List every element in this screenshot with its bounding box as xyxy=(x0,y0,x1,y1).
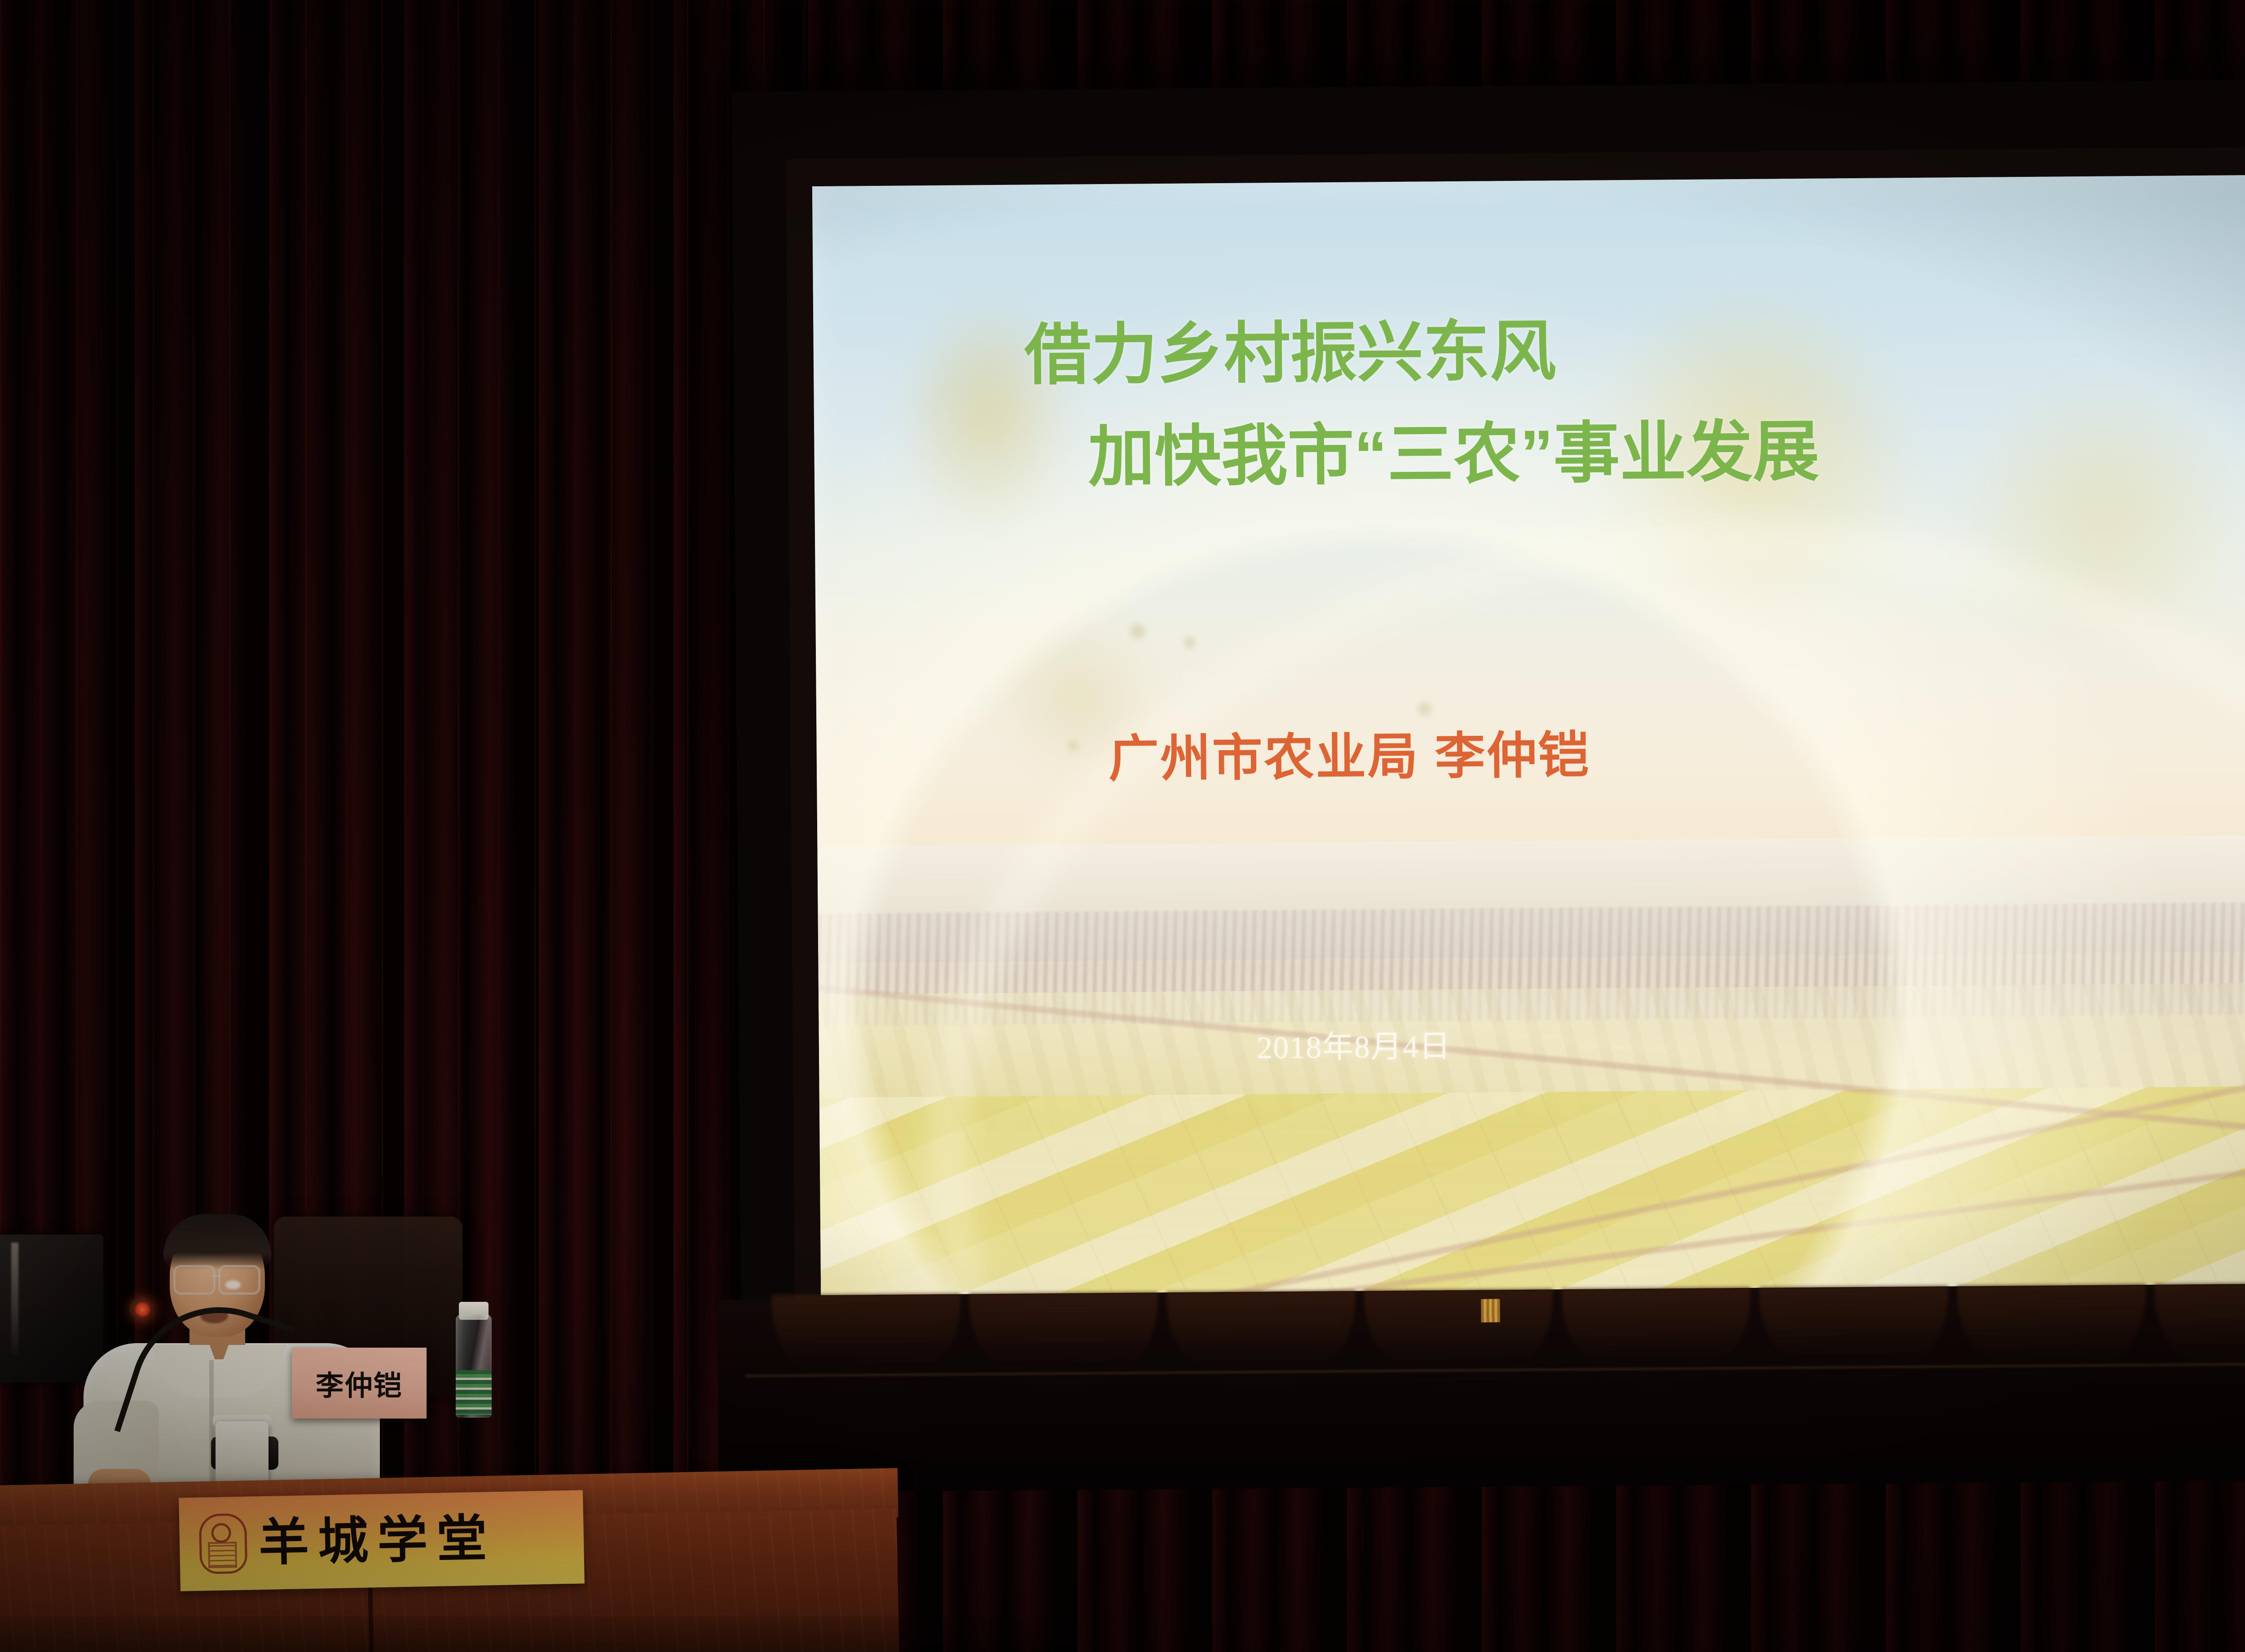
slide-presenter-line: 广州市农业局 李仲铠 xyxy=(1108,715,1590,791)
auditorium-scene: 借力乡村振兴东风 加快我市“三农”事业发展 广州市农业局 李仲铠 2018年8月… xyxy=(0,0,2245,1652)
valance-scallop xyxy=(2154,1283,2245,1387)
desk-nameplate-text: 李仲铠 xyxy=(316,1363,402,1403)
eyeglass-glint xyxy=(225,1280,241,1289)
background-speck xyxy=(1130,624,1145,639)
watercolor-blob-right xyxy=(1900,309,2245,716)
valance-scallop xyxy=(1759,1286,1949,1390)
slide-date: 2018年8月4日 xyxy=(1257,1021,1451,1068)
microphone-live-led xyxy=(135,1302,150,1317)
eyeglasses-icon xyxy=(218,1265,260,1295)
valance-scallop xyxy=(1562,1287,1751,1392)
stage-floor-shadow xyxy=(0,1616,1078,1652)
slide-title-line-1: 借力乡村振兴东风 xyxy=(1024,315,1556,392)
aerial-farmland-photo xyxy=(817,835,2245,1295)
venue-banner-text: 羊城学堂 xyxy=(258,1513,497,1568)
background-speck xyxy=(1418,702,1431,716)
background-speck xyxy=(1184,637,1196,648)
valance-scallop xyxy=(969,1292,1158,1396)
valance-scallop xyxy=(1167,1290,1356,1395)
watercolor-blob-left xyxy=(835,247,1116,590)
farm-photo-fade-overlay xyxy=(817,835,2245,1295)
eyeglasses-icon xyxy=(173,1265,216,1295)
projection-screen-assembly: 借力乡村振兴东风 加快我市“三农”事业发展 广州市农业局 李仲铠 2018年8月… xyxy=(736,85,2245,1432)
water-bottle-label xyxy=(456,1370,492,1415)
monitor-edge-highlight xyxy=(11,1243,18,1355)
screen-valance-drape xyxy=(718,1286,2245,1493)
eyeglasses-bridge xyxy=(211,1275,220,1277)
background-speck xyxy=(1068,741,1078,751)
valance-scallop xyxy=(1364,1288,1554,1393)
slide-title-line-2: 加快我市“三农”事业发展 xyxy=(1088,416,1819,495)
venue-banner: 羊城学堂 xyxy=(179,1490,585,1591)
presentation-slide: 借力乡村振兴东风 加快我市“三农”事业发展 广州市农业局 李仲铠 2018年8月… xyxy=(812,175,2245,1295)
projection-screen-frame: 借力乡村振兴东风 加快我市“三农”事业发展 广州市农业局 李仲铠 2018年8月… xyxy=(731,79,2245,1331)
valance-scallop xyxy=(1957,1284,2146,1388)
desk-nameplate: 李仲铠 xyxy=(292,1348,427,1419)
drinking-mug xyxy=(216,1421,269,1489)
seal-stamp-icon xyxy=(199,1513,248,1574)
valance-center-tab xyxy=(1481,1299,1500,1322)
podium-foreground: 李仲铠 羊城学堂 xyxy=(0,1167,898,1652)
speaker-hair xyxy=(163,1214,271,1270)
